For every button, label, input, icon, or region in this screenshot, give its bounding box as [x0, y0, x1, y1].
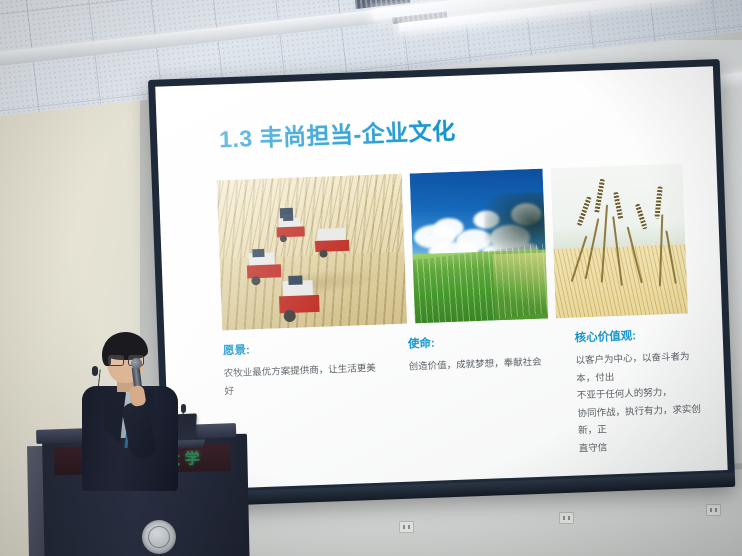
wall-outlet — [399, 521, 414, 533]
core-values-line: 协同作战，执行有力，求实创新，正 — [577, 401, 703, 441]
slide-title: 1.3 丰尚担当-企业文化 — [219, 112, 457, 155]
speaker-person — [74, 330, 194, 480]
harvester-icon — [314, 227, 361, 263]
core-values-line: 直守信 — [578, 436, 704, 458]
core-values-body: 以客户为中心，以奋斗者为本，付出 不亚于任何人的努力， 协同作战，执行有力，求实… — [575, 348, 704, 458]
slide-photo-row — [217, 163, 688, 330]
photo-wheat-field-harvesters — [217, 174, 407, 331]
lecture-hall-photo: 1.3 丰尚担当-企业文化 — [0, 0, 742, 556]
vision-block: 愿景: 农牧业最优方案提供商，让生活更美 好 — [223, 337, 385, 401]
photo-blue-sky-green-field — [410, 169, 548, 324]
photo-wheat-stalks — [551, 163, 688, 318]
mission-block: 使命: 创造价值，成就梦想，奉献社会 — [408, 330, 574, 377]
core-values-block: 核心价值观: 以客户为中心，以奋斗者为本，付出 不亚于任何人的努力， 协同作战，… — [574, 325, 704, 458]
vision-body: 农牧业最优方案提供商，让生活更美 好 — [224, 360, 385, 401]
wall-outlet — [706, 504, 721, 516]
vision-heading: 愿景: — [223, 337, 383, 359]
harvester-icon — [274, 217, 315, 248]
harvester-icon — [276, 279, 332, 327]
mission-body: 创造价值，成就梦想，奉献社会 — [408, 353, 574, 377]
mission-line: 创造价值，成就梦想，奉献社会 — [408, 353, 574, 377]
wall-outlet — [559, 512, 574, 524]
field-sunlit-patch — [492, 252, 548, 320]
core-values-heading: 核心价值观: — [574, 325, 700, 346]
presentation-slide: 1.3 丰尚担当-企业文化 — [155, 66, 727, 490]
mission-heading: 使命: — [408, 330, 573, 352]
core-values-line: 以客户为中心，以奋斗者为本，付出 — [575, 348, 701, 388]
